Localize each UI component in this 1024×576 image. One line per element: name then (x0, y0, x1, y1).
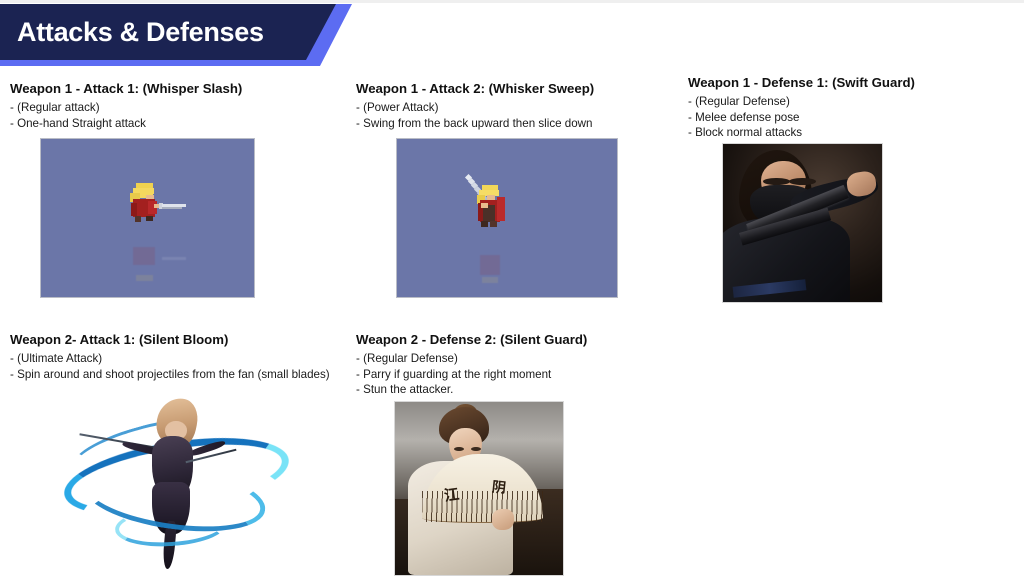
block-title: Weapon 2 - Defense 2: (Silent Guard) (356, 331, 587, 348)
sprite-figure (124, 183, 186, 233)
block-bullet: - Stun the attacker. (356, 382, 587, 398)
fan-ribs (422, 491, 543, 522)
block-bullet: - (Regular Defense) (688, 94, 915, 110)
block-title: Weapon 1 - Attack 1: (Whisper Slash) (10, 80, 242, 97)
block-bullet: - Parry if guarding at the right moment (356, 367, 587, 383)
block-bullet: - (Regular Defense) (356, 351, 587, 367)
block-weapon2-attack1: Weapon 2- Attack 1: (Silent Bloom) - (Ul… (10, 331, 330, 382)
block-bullet: - (Power Attack) (356, 100, 594, 116)
title-banner-body: Attacks & Defenses (0, 4, 336, 60)
title-banner: Attacks & Defenses (0, 4, 370, 66)
block-bullet: - Spin around and shoot projectiles from… (10, 367, 330, 383)
pixel-sprite-upward-sweep-image (396, 138, 618, 298)
block-bullet: - (Ultimate Attack) (10, 351, 330, 367)
block-weapon1-defense1: Weapon 1 - Defense 1: (Swift Guard) - (R… (688, 74, 915, 141)
fan-calligraphy: 阴 (491, 476, 507, 497)
ninja-guard-photo-image (722, 143, 883, 303)
block-title: Weapon 1 - Attack 2: (Whisker Sweep) (356, 80, 594, 97)
block-bullet: - Swing from the back upward then slice … (356, 116, 594, 132)
block-bullet: - One-hand Straight attack (10, 116, 242, 132)
hand-holding-fan (492, 509, 514, 530)
fan-guard-photo-image: 江 阴 (394, 401, 564, 576)
eye-left (454, 447, 464, 451)
spin-attack-artwork-image (58, 392, 294, 576)
block-bullet: - (Regular attack) (10, 100, 242, 116)
block-bullet: - Melee defense pose (688, 110, 915, 126)
sprite-reflection (124, 237, 186, 281)
block-weapon2-defense2: Weapon 2 - Defense 2: (Silent Guard) - (… (356, 331, 587, 398)
block-bullet: - Block normal attacks (688, 125, 915, 141)
pixel-sprite-straight-slash-image (40, 138, 255, 298)
block-weapon1-attack2: Weapon 1 - Attack 2: (Whisker Sweep) - (… (356, 80, 594, 131)
fan-calligraphy: 江 (442, 483, 460, 506)
block-title: Weapon 1 - Defense 1: (Swift Guard) (688, 74, 915, 91)
block-title: Weapon 2- Attack 1: (Silent Bloom) (10, 331, 330, 348)
slide-canvas: Attacks & Defenses Weapon 1 - Attack 1: … (0, 0, 1024, 576)
eye-right (471, 447, 481, 451)
sprite-reflection (452, 239, 522, 285)
sprite-figure (452, 171, 522, 239)
block-weapon1-attack1: Weapon 1 - Attack 1: (Whisper Slash) - (… (10, 80, 242, 131)
page-title: Attacks & Defenses (0, 17, 264, 48)
slide-top-edge (0, 0, 1024, 3)
